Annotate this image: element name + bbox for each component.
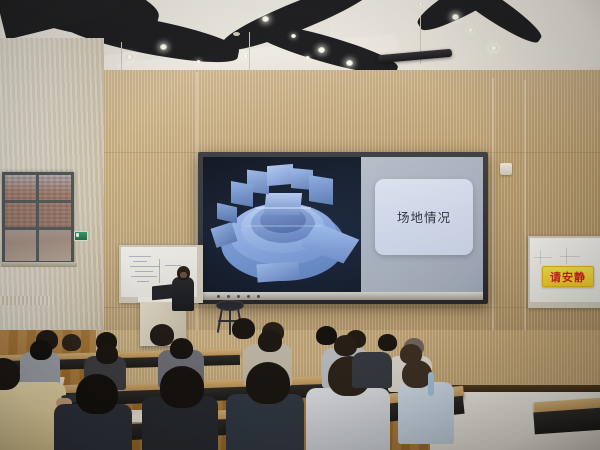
screen-button-icon[interactable]: [247, 295, 250, 298]
downlight-icon: [468, 28, 473, 32]
wall-control-panel[interactable]: [500, 163, 512, 175]
3d-model-amphitheater: [211, 163, 361, 287]
smoke-detector-icon: [233, 32, 240, 36]
exit-sign-figure-icon: [76, 233, 79, 237]
downlight-icon: [291, 34, 296, 38]
audience-head: [246, 362, 290, 404]
window-sill: [1, 262, 77, 267]
downlight-icon: [318, 47, 325, 53]
downlight-icon: [490, 45, 497, 51]
slide: 场地情况: [203, 157, 483, 293]
downlight-icon: [262, 16, 269, 22]
downlight-icon: [160, 44, 167, 50]
desk-far-right-front: [533, 408, 600, 435]
audience-head: [232, 318, 255, 339]
downlight-icon: [418, 2, 423, 6]
screen-button-icon[interactable]: [237, 295, 240, 298]
downlight-icon: [452, 14, 459, 20]
window-glass: [5, 175, 71, 261]
quiet-notice-sign: 请安静: [542, 266, 594, 287]
slide-title-text: 场地情况: [375, 207, 473, 226]
audience-head: [30, 340, 52, 360]
audience-body: [352, 352, 392, 388]
screen-button-icon[interactable]: [257, 295, 260, 298]
audience-head: [170, 338, 193, 359]
downlight-icon: [243, 54, 248, 58]
lecture-hall-photo: 场地情况: [0, 0, 600, 450]
downlight-icon: [305, 56, 310, 60]
water-bottle: [428, 372, 434, 396]
quiet-notice-text: 请安静: [550, 269, 586, 285]
audience-head: [160, 366, 204, 408]
downlight-icon: [196, 60, 201, 64]
audience-body: [398, 382, 454, 444]
audience-head: [76, 374, 118, 414]
audience-head: [378, 334, 397, 351]
audience-head: [62, 334, 81, 351]
downlight-icon: [126, 54, 133, 60]
screen-button-icon[interactable]: [217, 295, 220, 298]
audience-head: [96, 344, 118, 364]
audience-head: [334, 335, 357, 356]
screen-control-bar[interactable]: [203, 292, 483, 300]
downlight-icon: [346, 60, 353, 66]
radiator: [0, 296, 56, 305]
projection-screen[interactable]: 场地情况: [203, 157, 483, 293]
screen-button-icon[interactable]: [227, 295, 230, 298]
presenter-face: [180, 272, 187, 278]
audience-body-hoodie: [306, 388, 390, 450]
audience-head: [258, 330, 282, 352]
presenter-body: [172, 277, 194, 311]
